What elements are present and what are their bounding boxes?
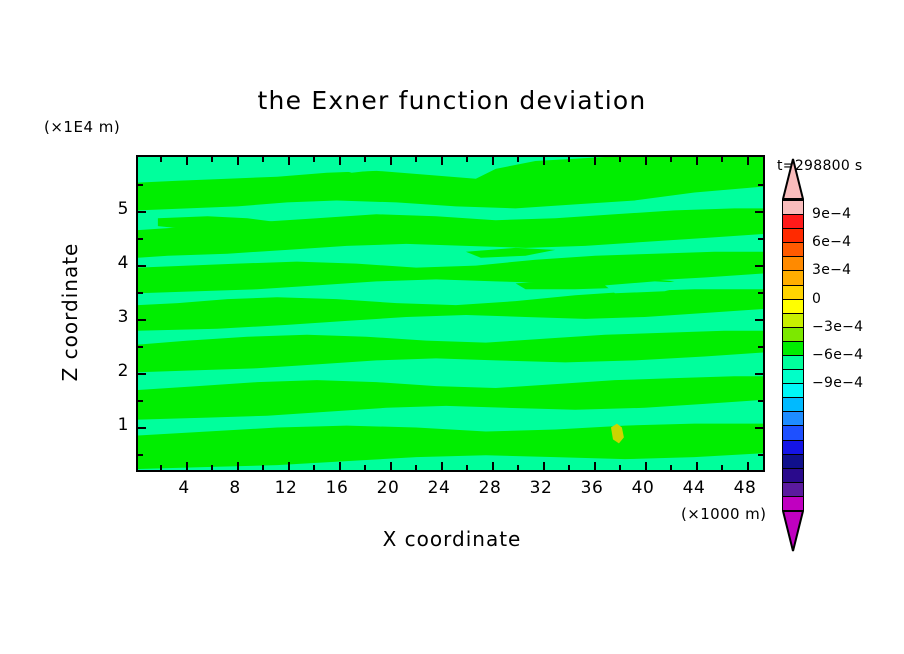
x-tick-top-minor [364,157,366,162]
y-axis-tick-label: 5 [101,199,129,219]
x-tick-top-minor [313,157,315,162]
x-tick-16 [339,462,341,470]
x-axis-tick-label: 8 [215,478,255,498]
x-axis-tick-label: 36 [572,478,612,498]
x-tick-top-minor [415,157,417,162]
x-tick-minor [619,465,621,470]
colorbar-segment [782,496,804,511]
x-tick-top [492,157,494,165]
colorbar-tick-label: 9e−4 [812,206,851,222]
colorbar-segment [782,482,804,497]
colorbar-segment [782,228,804,243]
y-tick-1 [138,427,146,429]
y-tick-right [755,319,763,321]
colorbar-bottom-arrow-icon [782,510,804,552]
y-tick-right-minor [758,400,763,402]
x-axis-tick-label: 48 [725,478,765,498]
x-tick-top-minor [211,157,213,162]
x-tick-top [696,157,698,165]
y-axis-tick-label: 2 [101,361,129,381]
x-tick-24 [441,462,443,470]
x-tick-minor [670,465,672,470]
colorbar-segment [782,299,804,314]
x-tick-minor [160,465,162,470]
colorbar-segment [782,383,804,398]
colorbar-segment [782,397,804,412]
x-tick-4 [186,462,188,470]
colorbar-tick-label: 3e−4 [812,262,851,278]
colorbar-segment [782,285,804,300]
y-tick-minor [138,238,143,240]
colorbar-tick-label: 6e−4 [812,234,851,250]
colorbar-segment [782,200,804,215]
colorbar-segment [782,242,804,257]
x-tick-minor [721,465,723,470]
x-axis-tick-label: 16 [317,478,357,498]
y-axis-tick-label: 1 [101,415,129,435]
x-tick-top-minor [517,157,519,162]
y-tick-right [755,373,763,375]
x-tick-40 [645,462,647,470]
x-axis-tick-label: 32 [521,478,561,498]
x-tick-top [747,157,749,165]
colorbar-tick-label: 0 [812,291,821,307]
y-axis-tick-label: 4 [101,253,129,273]
x-tick-top-minor [160,157,162,162]
colorbar-tick-label: −6e−4 [812,347,863,363]
x-tick-top [237,157,239,165]
y-tick-minor [138,292,143,294]
x-axis-unit-note: (×1000 m) [681,505,766,523]
x-tick-minor [313,465,315,470]
x-tick-44 [696,462,698,470]
colorbar-segment [782,440,804,455]
colorbar-segment [782,327,804,342]
y-tick-minor [138,454,143,456]
x-tick-top-minor [568,157,570,162]
x-tick-48 [747,462,749,470]
x-tick-8 [237,462,239,470]
x-tick-top [186,157,188,165]
x-tick-top-minor [262,157,264,162]
y-tick-minor [138,184,143,186]
x-tick-36 [594,462,596,470]
x-tick-top [543,157,545,165]
x-axis-tick-label: 44 [674,478,714,498]
colorbar-tick-label: −3e−4 [812,319,863,335]
y-tick-right [755,427,763,429]
y-tick-2 [138,373,146,375]
colorbar-segment [782,411,804,426]
y-tick-minor [138,346,143,348]
x-tick-top-minor [721,157,723,162]
x-tick-minor [262,465,264,470]
x-tick-32 [543,462,545,470]
y-tick-right-minor [758,238,763,240]
x-tick-minor [415,465,417,470]
y-tick-3 [138,319,146,321]
colorbar-segment [782,425,804,440]
colorbar-segment [782,256,804,271]
x-axis-tick-label: 4 [164,478,204,498]
x-axis-tick-label: 28 [470,478,510,498]
y-axis-title: Z coordinate [58,212,82,412]
contour-field [138,157,763,470]
x-axis-title: X coordinate [0,527,904,551]
x-axis-tick-label: 20 [368,478,408,498]
y-tick-right [755,265,763,267]
y-tick-minor [138,400,143,402]
x-tick-top [645,157,647,165]
colorbar-segment [782,468,804,483]
x-axis-tick-label: 24 [419,478,459,498]
y-axis-unit-note: (×1E4 m) [44,118,120,136]
colorbar-segment [782,341,804,356]
x-tick-top-minor [670,157,672,162]
y-tick-right-minor [758,292,763,294]
colorbar-segment [782,313,804,328]
x-tick-top [288,157,290,165]
x-tick-minor [211,465,213,470]
y-tick-right-minor [758,184,763,186]
x-tick-top [594,157,596,165]
x-tick-minor [517,465,519,470]
x-tick-minor [364,465,366,470]
x-tick-28 [492,462,494,470]
y-tick-5 [138,211,146,213]
x-tick-minor [568,465,570,470]
x-axis-tick-label: 12 [266,478,306,498]
x-tick-top-minor [466,157,468,162]
x-tick-minor [466,465,468,470]
contour-plot-area [136,155,765,472]
y-tick-right-minor [758,454,763,456]
x-tick-top [441,157,443,165]
colorbar-segment [782,355,804,370]
colorbar-segment [782,369,804,384]
x-tick-20 [390,462,392,470]
y-axis-tick-label: 3 [101,307,129,327]
colorbar-segment [782,214,804,229]
colorbar-tick-label: −9e−4 [812,375,863,391]
x-tick-top [339,157,341,165]
x-tick-12 [288,462,290,470]
x-axis-tick-label: 40 [623,478,663,498]
colorbar-segment [782,270,804,285]
y-tick-4 [138,265,146,267]
colorbar: 9e−46e−43e−40−3e−4−6e−4−9e−4 [782,200,804,510]
x-tick-top [390,157,392,165]
y-tick-right [755,211,763,213]
colorbar-segment [782,454,804,469]
page-title: the Exner function deviation [0,86,904,115]
colorbar-top-arrow-icon [782,158,804,200]
y-tick-right-minor [758,346,763,348]
x-tick-top-minor [619,157,621,162]
